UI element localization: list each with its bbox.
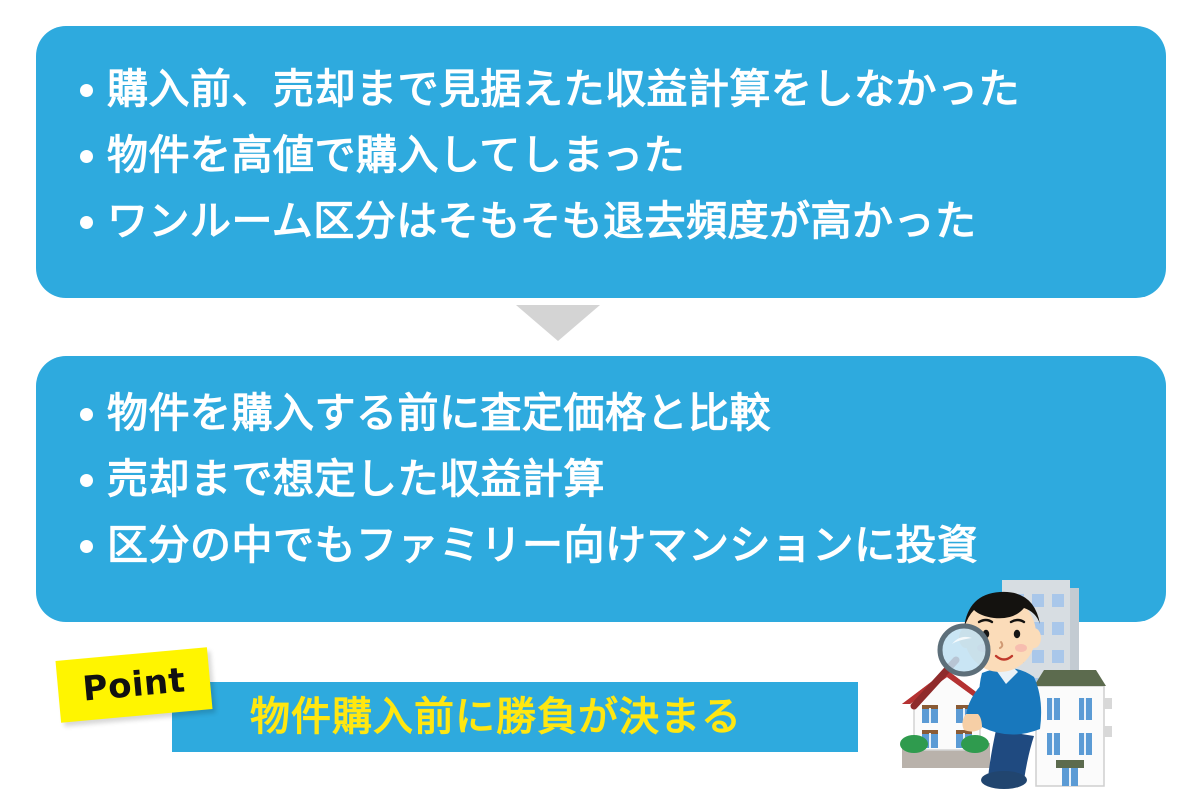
list-item: 購入前、売却まで見据えた収益計算をしなかった bbox=[80, 64, 1126, 114]
problems-bullet-list: 購入前、売却まで見据えた収益計算をしなかった 物件を高値で購入してしまった ワン… bbox=[80, 64, 1126, 246]
apartment-building-icon bbox=[1034, 670, 1112, 786]
solutions-bullet-3: 区分の中でもファミリー向けマンションに投資 bbox=[107, 520, 979, 570]
slide-canvas: 購入前、売却まで見据えた収益計算をしなかった 物件を高値で購入してしまった ワン… bbox=[0, 0, 1200, 800]
bullet-dot-icon bbox=[80, 150, 93, 163]
point-badge-label: Point bbox=[81, 663, 187, 706]
problems-bullet-2: 物件を高値で購入してしまった bbox=[107, 130, 685, 180]
bullet-dot-icon bbox=[80, 408, 93, 421]
solutions-bullet-2: 売却まで想定した収益計算 bbox=[107, 454, 605, 504]
list-item: 売却まで想定した収益計算 bbox=[80, 454, 1126, 504]
problems-bullet-3: ワンルーム区分はそもそも退去頻度が高かった bbox=[107, 196, 976, 246]
triangle-down-icon bbox=[516, 305, 600, 341]
point-message-bar: 物件購入前に勝負が決まる bbox=[172, 682, 858, 752]
property-inspection-illustration bbox=[884, 578, 1184, 794]
bullet-dot-icon bbox=[80, 474, 93, 487]
problems-bullet-1: 購入前、売却まで見据えた収益計算をしなかった bbox=[107, 64, 1020, 114]
list-item: 物件を購入する前に査定価格と比較 bbox=[80, 388, 1126, 438]
problems-panel: 購入前、売却まで見据えた収益計算をしなかった 物件を高値で購入してしまった ワン… bbox=[36, 26, 1166, 298]
list-item: 物件を高値で購入してしまった bbox=[80, 130, 1126, 180]
list-item: ワンルーム区分はそもそも退去頻度が高かった bbox=[80, 196, 1126, 246]
bullet-dot-icon bbox=[80, 540, 93, 553]
list-item: 区分の中でもファミリー向けマンションに投資 bbox=[80, 520, 1126, 570]
bullet-dot-icon bbox=[80, 84, 93, 97]
bullet-dot-icon bbox=[80, 216, 93, 229]
solutions-bullet-1: 物件を購入する前に査定価格と比較 bbox=[107, 388, 771, 438]
point-message-text: 物件購入前に勝負が決まる bbox=[250, 697, 742, 737]
solutions-bullet-list: 物件を購入する前に査定価格と比較 売却まで想定した収益計算 区分の中でもファミリ… bbox=[80, 388, 1126, 570]
